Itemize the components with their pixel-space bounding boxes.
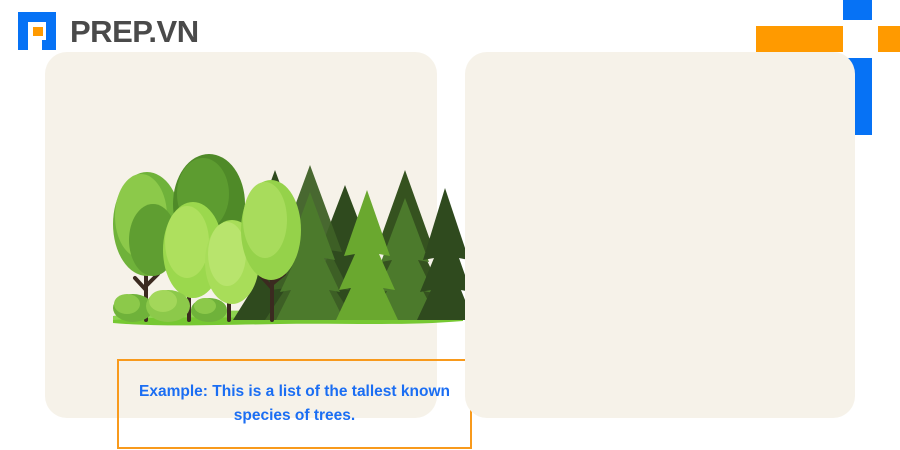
trees-caption-box: Example: This is a list of the tallest k…: [117, 359, 472, 449]
decor-blue-top-block: [843, 0, 872, 20]
decor-orange-bar-block: [756, 26, 843, 52]
ladder-card: Example: Straight ladders are tall ladde…: [465, 52, 855, 418]
brand-name: PREP.VN: [70, 16, 199, 47]
brand-logo[interactable]: PREP.VN: [14, 8, 199, 54]
prep-logo-icon: [14, 8, 60, 54]
decor-orange-right-block: [878, 26, 900, 52]
forest-trees-illustration: [105, 130, 470, 335]
trees-card: Example: This is a list of the tallest k…: [45, 52, 437, 418]
